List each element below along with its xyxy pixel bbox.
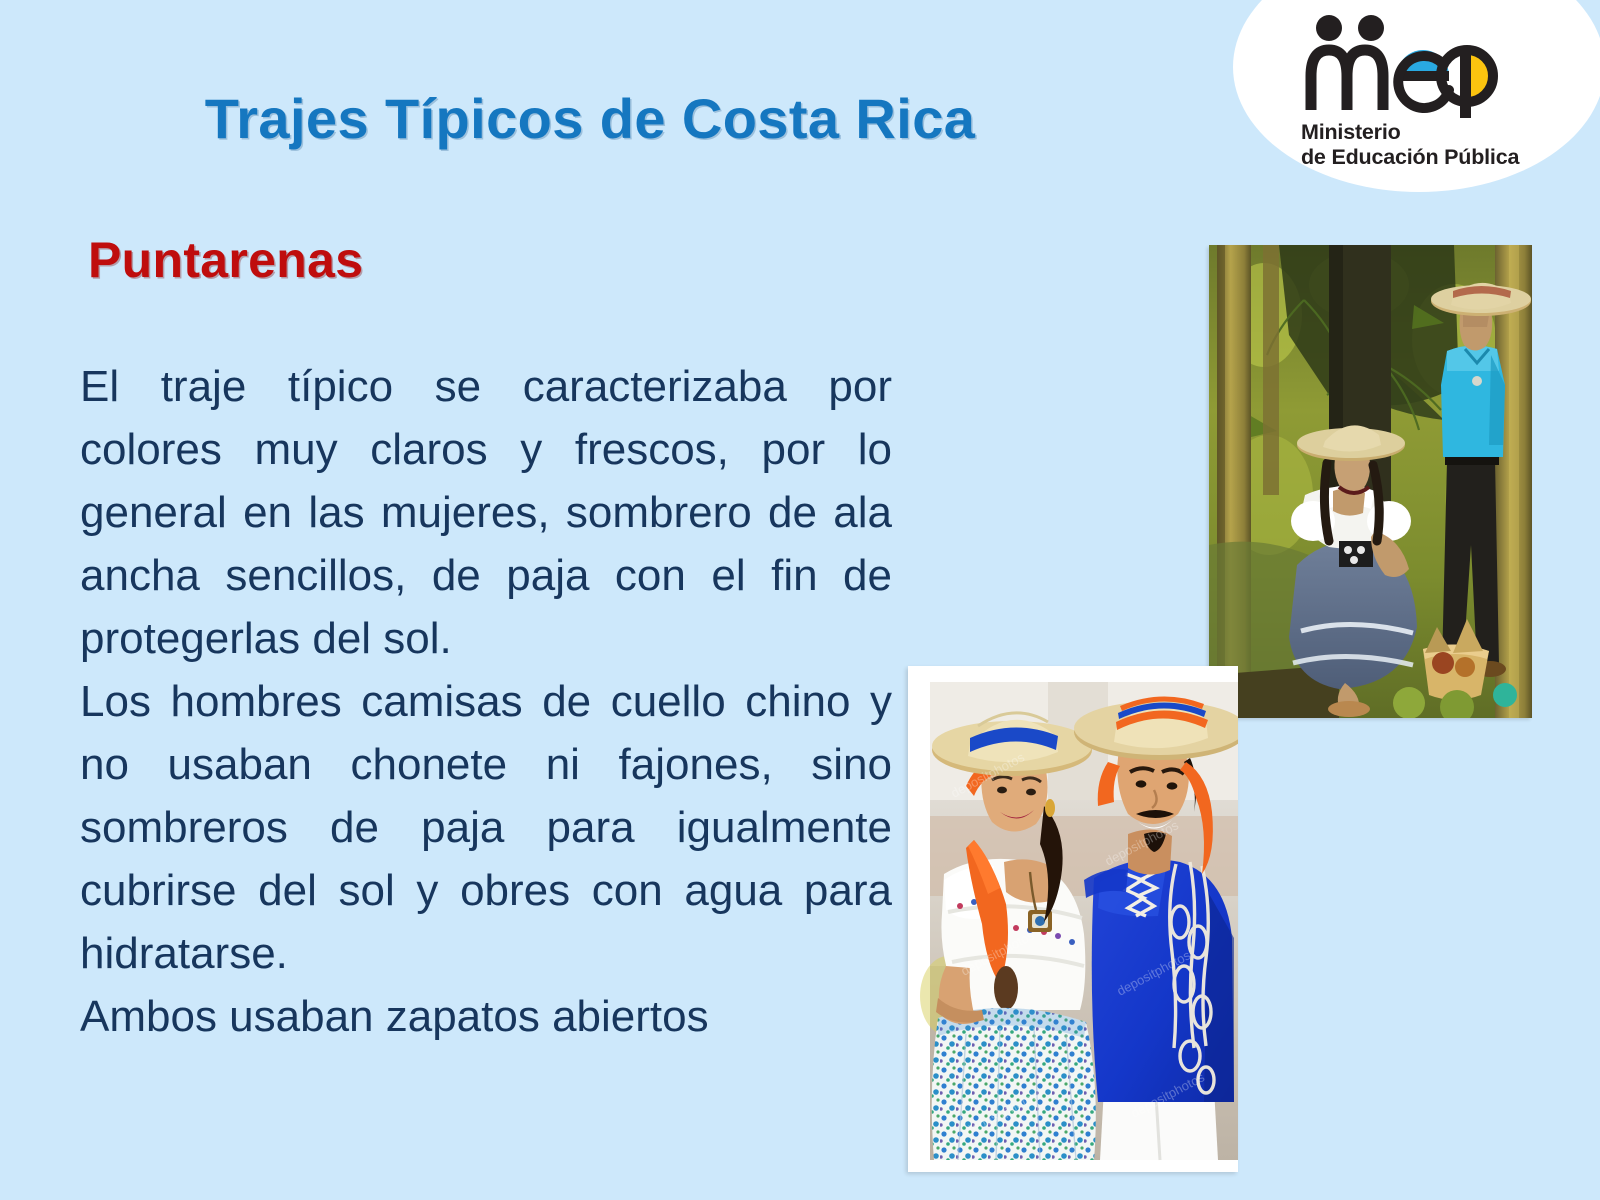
body-text-block: El traje típico se caracterizaba por col… <box>80 355 892 1048</box>
page-title: Trajes Típicos de Costa Rica <box>0 86 1180 151</box>
paragraph-2: Los hombres camisas de cuello chino y no… <box>80 670 892 985</box>
logo-line-2: de Educación Pública <box>1301 145 1525 170</box>
mep-logo: Ministerio de Educación Pública <box>1243 14 1583 184</box>
paragraph-1: El traje típico se caracterizaba por col… <box>80 355 892 670</box>
logo-line-1: Ministerio <box>1301 120 1525 145</box>
logo-ministry-text: Ministerio de Educación Pública <box>1301 120 1525 170</box>
section-subtitle: Puntarenas <box>88 231 363 289</box>
photo-vintage-couple <box>1209 245 1532 718</box>
mep-wordmark-icon <box>1301 14 1525 118</box>
slide-canvas: Trajes Típicos de Costa Rica Puntarenas … <box>0 0 1600 1200</box>
photo-modern-couple: depositphotos depositphotos depositphoto… <box>908 666 1238 1172</box>
paragraph-3: Ambos usaban zapatos abiertos <box>80 985 892 1048</box>
